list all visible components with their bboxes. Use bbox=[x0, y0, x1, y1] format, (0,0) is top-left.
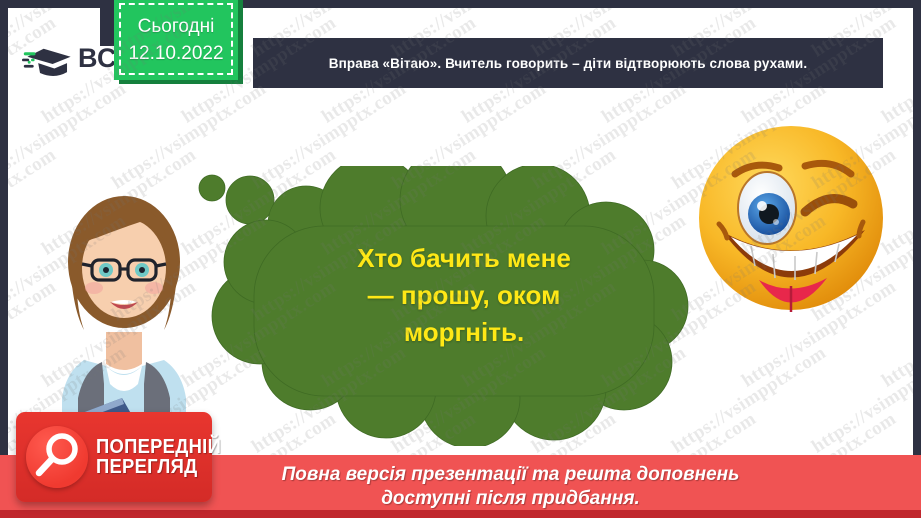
slide-root: Хто бачить мене — прошу, оком моргніть. bbox=[0, 0, 921, 518]
preview-badge-label: ПОПЕРЕДНІЙ ПЕРЕГЛЯД bbox=[96, 437, 221, 478]
header-banner: Вправа «Вітаю». Вчитель говорить – діти … bbox=[253, 38, 883, 88]
watermark-text: https://vsimpptx.com bbox=[808, 342, 913, 458]
bottom-bar-strip bbox=[0, 510, 921, 518]
magnifier-icon bbox=[26, 426, 88, 488]
cloud-line-1: Хто бачить мене bbox=[284, 240, 644, 277]
graduation-cap-icon bbox=[22, 43, 76, 85]
winking-smiley-icon bbox=[693, 120, 889, 316]
purchase-notice-line-2: доступні після придбання. bbox=[282, 487, 740, 510]
purchase-notice-line-1: Повна версія презентації та решта доповн… bbox=[282, 463, 740, 486]
cloud-line-2: — прошу, оком bbox=[284, 277, 644, 314]
date-badge-label: Сьогодні bbox=[138, 16, 215, 38]
preview-badge-line-1: ПОПЕРЕДНІЙ bbox=[96, 437, 221, 457]
header-title: Вправа «Вітаю». Вчитель говорить – діти … bbox=[329, 56, 807, 71]
date-badge-value: 12.10.2022 bbox=[128, 43, 223, 65]
preview-badge[interactable]: ПОПЕРЕДНІЙ ПЕРЕГЛЯД bbox=[16, 412, 212, 502]
watermark-text: https://vsimpptx.com bbox=[8, 78, 131, 194]
date-badge: Сьогодні 12.10.2022 bbox=[114, 0, 238, 80]
preview-badge-line-2: ПЕРЕГЛЯД bbox=[96, 457, 221, 477]
cloud-text: Хто бачить мене — прошу, оком моргніть. bbox=[284, 240, 644, 351]
purchase-notice-text: Повна версія презентації та решта доповн… bbox=[282, 463, 740, 509]
watermark-text: https://vsimpptx.com bbox=[878, 12, 913, 128]
cloud-line-3: моргніть. bbox=[284, 314, 644, 351]
